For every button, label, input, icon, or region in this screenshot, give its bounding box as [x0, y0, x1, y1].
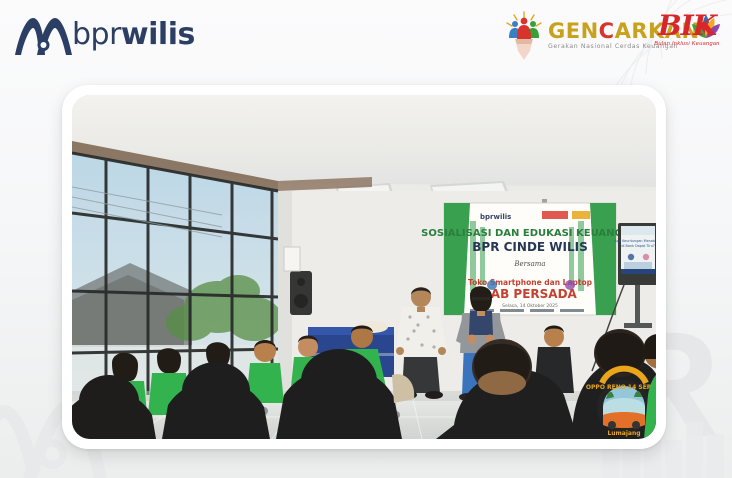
page-header: bprwilis	[0, 0, 732, 82]
mountain-peaks-icon	[14, 14, 74, 56]
brand-wordmark-bold: wilis	[121, 17, 195, 52]
pencil-people-icon	[503, 11, 545, 61]
gencarkan-title-a: GEN	[548, 19, 599, 43]
brand-logo[interactable]: bprwilis	[14, 14, 195, 56]
page-background: R	[0, 0, 732, 478]
bik-wordmark: BIK	[650, 12, 724, 40]
brand-wordmark: bprwilis	[72, 20, 195, 50]
brand-wordmark-light: bpr	[72, 17, 121, 52]
event-photograph: bprwilis SOSIALISASI DAN EDUKASI KEUANGA…	[72, 95, 656, 439]
bik-logo[interactable]: BIK Bulan Inklusi Keuangan	[650, 12, 724, 64]
photo-card[interactable]: bprwilis SOSIALISASI DAN EDUKASI KEUANGA…	[62, 85, 666, 449]
gencarkan-title-accent: C	[599, 19, 615, 43]
